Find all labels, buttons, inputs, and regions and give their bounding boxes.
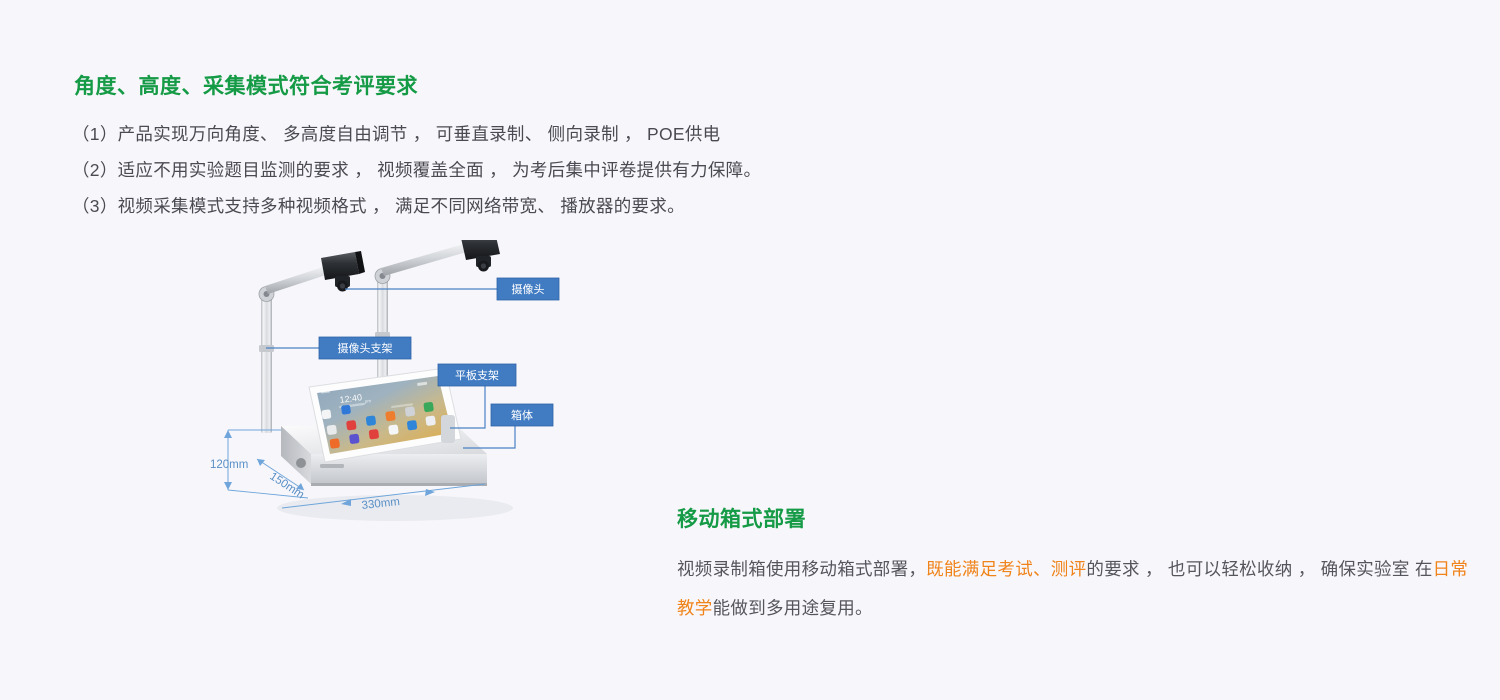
callout-case-label: 箱体	[511, 408, 533, 422]
deployment-paragraph: 视频录制箱使用移动箱式部署，既能满足考试、测评的要求 ， 也可以轻松收纳 ， 确…	[677, 550, 1477, 628]
callout-tablet-mount-label: 平板支架	[455, 368, 499, 382]
feature-bullet-3: （3）视频采集模式支持多种视频格式 ， 满足不同网络带宽、 播放器的要求。	[72, 188, 1172, 224]
callout-camera-label: 摄像头	[512, 282, 545, 296]
tablet-ampm: pm	[364, 398, 371, 404]
product-illustration: 12:40 pm	[195, 240, 615, 545]
feature-bullet-1: （1）产品实现万向角度、 多高度自由调节 ， 可垂直录制、 侧向录制 ， POE…	[72, 116, 1172, 152]
feature-bullet-list: （1）产品实现万向角度、 多高度自由调节 ， 可垂直录制、 侧向录制 ， POE…	[72, 116, 1172, 224]
para-part-1: 视频录制箱使用移动箱式部署，	[677, 559, 926, 579]
tablet-mount-bracket	[441, 415, 455, 443]
para-part-2: 的要求 ， 也可以轻松收纳 ， 确保实验室 在	[1086, 559, 1432, 579]
para-highlight-1: 既能满足考试、测评	[926, 559, 1086, 579]
callout-camera-mount[interactable]: 摄像头支架	[319, 337, 411, 359]
para-part-3: 能做到多用途复用。	[713, 598, 873, 618]
callout-camera-mount-label: 摄像头支架	[338, 341, 393, 355]
callout-case[interactable]: 箱体	[491, 404, 553, 426]
section-heading-deployment: 移动箱式部署	[677, 503, 806, 533]
page-root: 角度、高度、采集模式符合考评要求 （1）产品实现万向角度、 多高度自由调节 ， …	[0, 0, 1500, 700]
section-heading-specs: 角度、高度、采集模式符合考评要求	[74, 70, 418, 100]
callout-tablet-mount[interactable]: 平板支架	[438, 364, 516, 386]
dimension-label-height: 120mm	[210, 459, 248, 471]
callout-camera[interactable]: 摄像头	[497, 278, 559, 300]
feature-bullet-2: （2）适应不用实验题目监测的要求 ， 视频覆盖全面 ， 为考后集中评卷提供有力保…	[72, 152, 1172, 188]
